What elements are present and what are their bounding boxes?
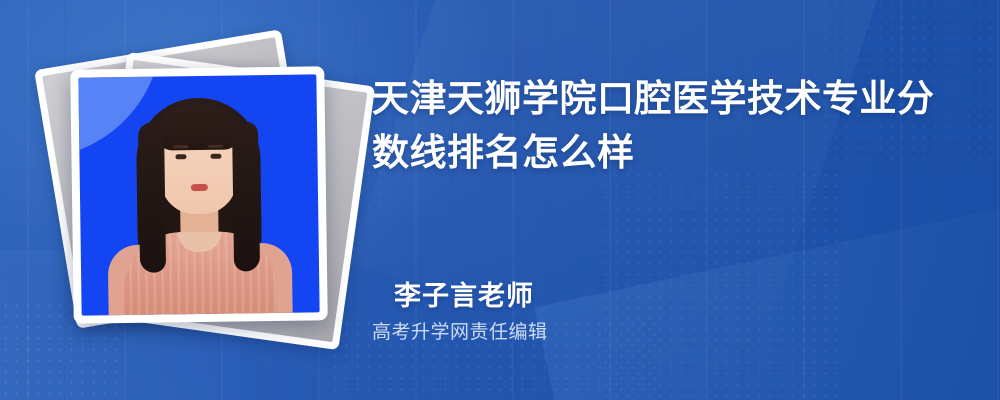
portrait-lips [190, 184, 207, 191]
author-role: 高考升学网责任编辑 [372, 317, 548, 344]
banner-text-content: 天津天狮学院口腔医学技术专业分数线排名怎么样 李子言老师 高考升学网责任编辑 [372, 0, 972, 400]
article-header-banner: 天津天狮学院口腔医学技术专业分数线排名怎么样 李子言老师 高考升学网责任编辑 [0, 0, 1000, 400]
portrait-eyebrow-right [208, 145, 223, 148]
portrait-eyebrow-left [173, 145, 188, 148]
portrait-illustration [78, 74, 319, 315]
portrait-hair-fringe [156, 105, 241, 150]
photo-card-front [70, 66, 328, 324]
portrait-hair-front-left [138, 122, 166, 272]
author-name: 李子言老师 [394, 274, 534, 313]
page-title: 天津天狮学院口腔医学技术专业分数线排名怎么样 [372, 72, 952, 180]
photo-card-stack [40, 20, 360, 370]
portrait-hair-front-right [232, 121, 260, 271]
portrait-eye-left [175, 154, 186, 159]
portrait-eye-right [210, 154, 221, 159]
author-photo [78, 74, 319, 315]
